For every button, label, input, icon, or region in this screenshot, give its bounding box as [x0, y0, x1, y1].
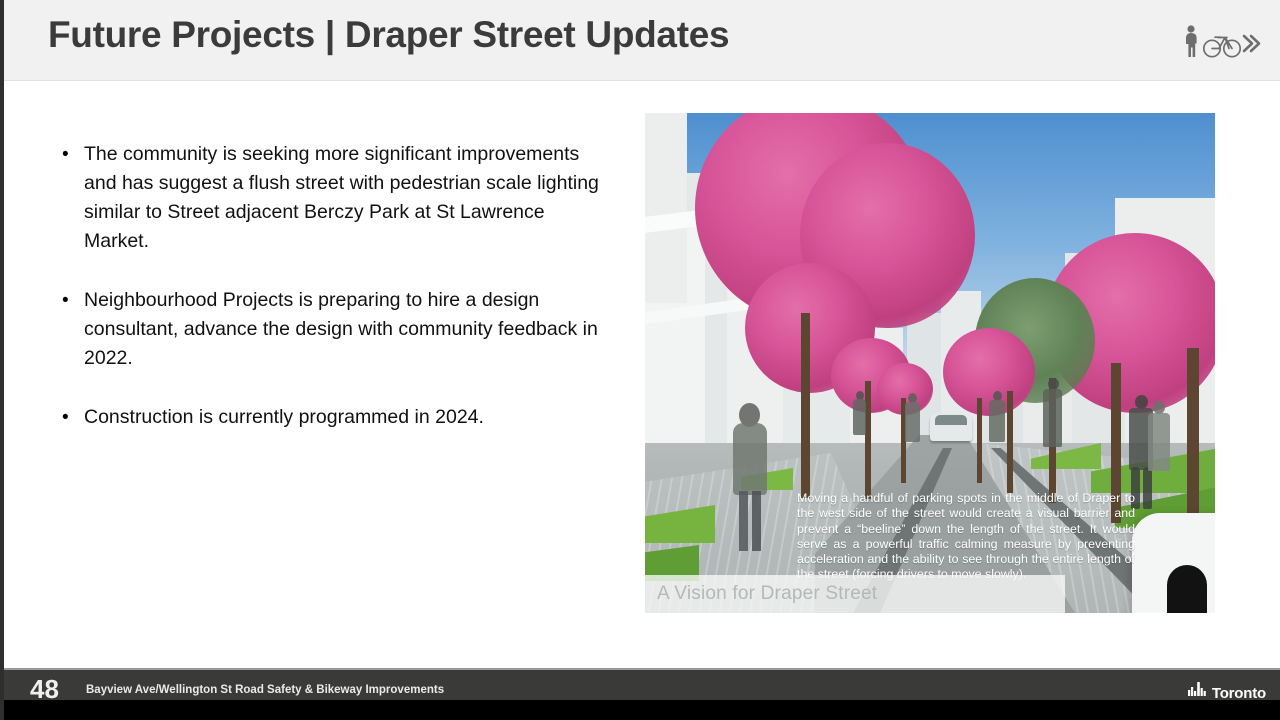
- presentation-slide: Future Projects | Draper Street Updates …: [0, 0, 1280, 720]
- vision-label: A Vision for Draper Street: [657, 583, 877, 605]
- tree-trunk: [1007, 391, 1013, 493]
- toronto-logo-text: Toronto: [1212, 687, 1266, 701]
- foreground-car-wheel: [1167, 565, 1207, 613]
- bullet-marker: •: [62, 286, 84, 315]
- tree-trunk: [865, 381, 871, 499]
- toronto-skyline-logo-icon: [1188, 682, 1208, 701]
- pedestrian: [1148, 413, 1170, 471]
- pedestrian: [989, 400, 1005, 442]
- tree-trunk: [977, 398, 982, 483]
- pedestrian: [905, 402, 920, 442]
- slide-left-edge: [0, 0, 4, 720]
- footer-subtitle: Bayview Ave/Wellington St Road Safety & …: [86, 684, 444, 696]
- bullet-text: Neighbourhood Projects is preparing to h…: [84, 286, 607, 373]
- building: [645, 113, 687, 303]
- bullet-text: The community is seeking more significan…: [84, 140, 607, 256]
- pedestrian: [1043, 389, 1062, 447]
- list-item: • The community is seeking more signific…: [62, 140, 607, 256]
- pedestrian: [739, 491, 748, 551]
- toronto-logo: Toronto: [1188, 682, 1266, 701]
- bullet-text: Construction is currently programmed in …: [84, 403, 607, 432]
- tree-trunk: [801, 313, 810, 498]
- pedestrian: [1135, 395, 1148, 409]
- bullet-marker: •: [62, 403, 84, 432]
- distant-car-window: [935, 415, 967, 425]
- page-number: 48: [30, 674, 59, 702]
- tree-trunk: [1187, 348, 1199, 523]
- draper-street-vision-rendering: Moving a handful of parking spots in the…: [645, 113, 1215, 613]
- list-item: • Construction is currently programmed i…: [62, 403, 607, 432]
- pedestrian: [1143, 467, 1152, 509]
- bullet-list: • The community is seeking more signific…: [62, 140, 607, 462]
- pedestrian: [733, 423, 767, 495]
- bottom-black-strip: [0, 700, 1280, 720]
- list-item: • Neighbourhood Projects is preparing to…: [62, 286, 607, 373]
- slide-footer: 48 Bayview Ave/Wellington St Road Safety…: [4, 668, 1280, 702]
- page-title: Future Projects | Draper Street Updates: [48, 14, 729, 56]
- bullet-marker: •: [62, 140, 84, 169]
- rendering-caption-overlay: Moving a handful of parking spots in the…: [797, 491, 1135, 583]
- pedestrian-bicycle-chevron-icon: [1182, 24, 1262, 60]
- slide-header: Future Projects | Draper Street Updates: [4, 0, 1280, 81]
- pedestrian: [853, 399, 866, 435]
- pedestrian: [752, 491, 761, 551]
